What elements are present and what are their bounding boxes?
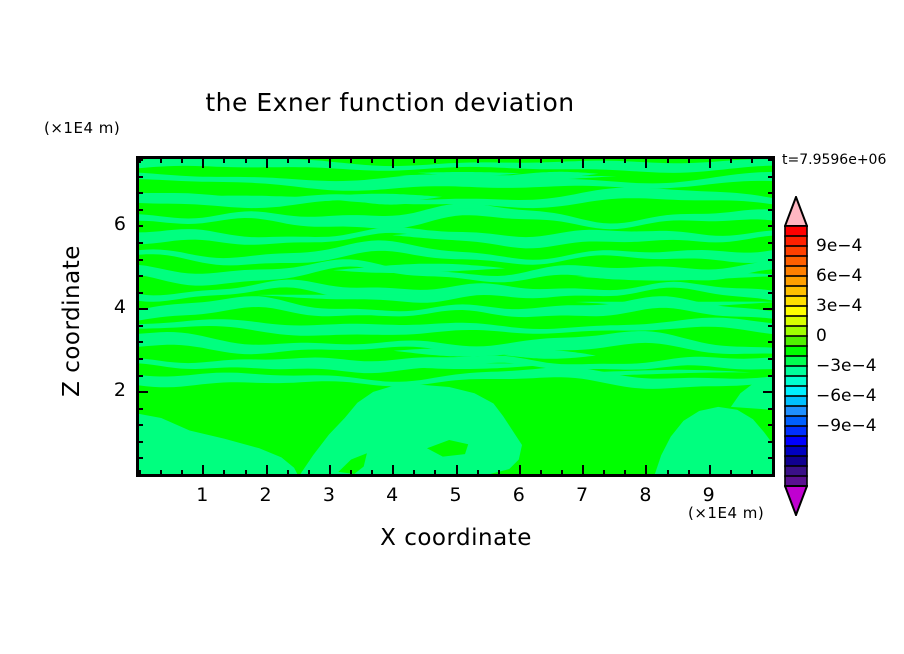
time-stamp-label: t=7.9596e+06	[782, 152, 886, 168]
xaxis-tick-label: 8	[625, 484, 665, 506]
colorbar-band	[785, 376, 807, 386]
colorbar-band	[785, 396, 807, 406]
colorbar-tick-label: 6e−4	[816, 266, 862, 286]
colorbar	[784, 196, 808, 516]
colorbar-band	[785, 306, 807, 316]
colorbar-band	[785, 426, 807, 436]
colorbar-band	[785, 276, 807, 286]
yaxis-tick-label: 4	[86, 296, 126, 318]
colorbar-tick-label: −6e−4	[816, 386, 877, 406]
colorbar-over-arrow	[785, 197, 807, 226]
colorbar-band	[785, 386, 807, 396]
colorbar-under-arrow	[785, 486, 807, 515]
xaxis-tick-label: 5	[436, 484, 476, 506]
xaxis-tick-label: 7	[562, 484, 602, 506]
xaxis-tick-label: 4	[372, 484, 412, 506]
colorbar-tick-label: 0	[816, 326, 827, 346]
xaxis-tick-label: 2	[246, 484, 286, 506]
colorbar-band	[785, 256, 807, 266]
colorbar-tick-label: 3e−4	[816, 296, 862, 316]
colorbar-band	[785, 236, 807, 246]
colorbar-band	[785, 296, 807, 306]
contour-plot-area	[136, 156, 775, 477]
colorbar-band	[785, 446, 807, 456]
colorbar-band	[785, 336, 807, 346]
colorbar-band	[785, 266, 807, 276]
xaxis-title: X coordinate	[276, 525, 636, 551]
colorbar-band	[785, 456, 807, 466]
colorbar-swatches	[784, 196, 808, 516]
yaxis-title: Z coordinate	[59, 221, 85, 421]
colorbar-band	[785, 286, 807, 296]
yaxis-units-label: (×1E4 m)	[44, 119, 120, 137]
yaxis-tick-label: 2	[86, 379, 126, 401]
colorbar-band	[785, 326, 807, 336]
colorbar-band	[785, 356, 807, 366]
colorbar-band	[785, 416, 807, 426]
colorbar-band	[785, 316, 807, 326]
colorbar-tick-label: 9e−4	[816, 236, 862, 256]
colorbar-band	[785, 226, 807, 236]
colorbar-band	[785, 246, 807, 256]
contour-field-canvas	[139, 159, 772, 474]
colorbar-band	[785, 466, 807, 476]
colorbar-band	[785, 366, 807, 376]
yaxis-tick-label: 6	[86, 213, 126, 235]
xaxis-units-label: (×1E4 m)	[688, 504, 764, 522]
colorbar-tick-label: −3e−4	[816, 356, 877, 376]
colorbar-band	[785, 346, 807, 356]
xaxis-tick-label: 6	[499, 484, 539, 506]
xaxis-tick-label: 3	[309, 484, 349, 506]
colorbar-tick-label: −9e−4	[816, 416, 877, 436]
colorbar-band	[785, 436, 807, 446]
xaxis-tick-label: 9	[689, 484, 729, 506]
colorbar-band	[785, 406, 807, 416]
xaxis-tick-label: 1	[182, 484, 222, 506]
colorbar-band	[785, 476, 807, 486]
page-title: the Exner function deviation	[0, 88, 780, 117]
